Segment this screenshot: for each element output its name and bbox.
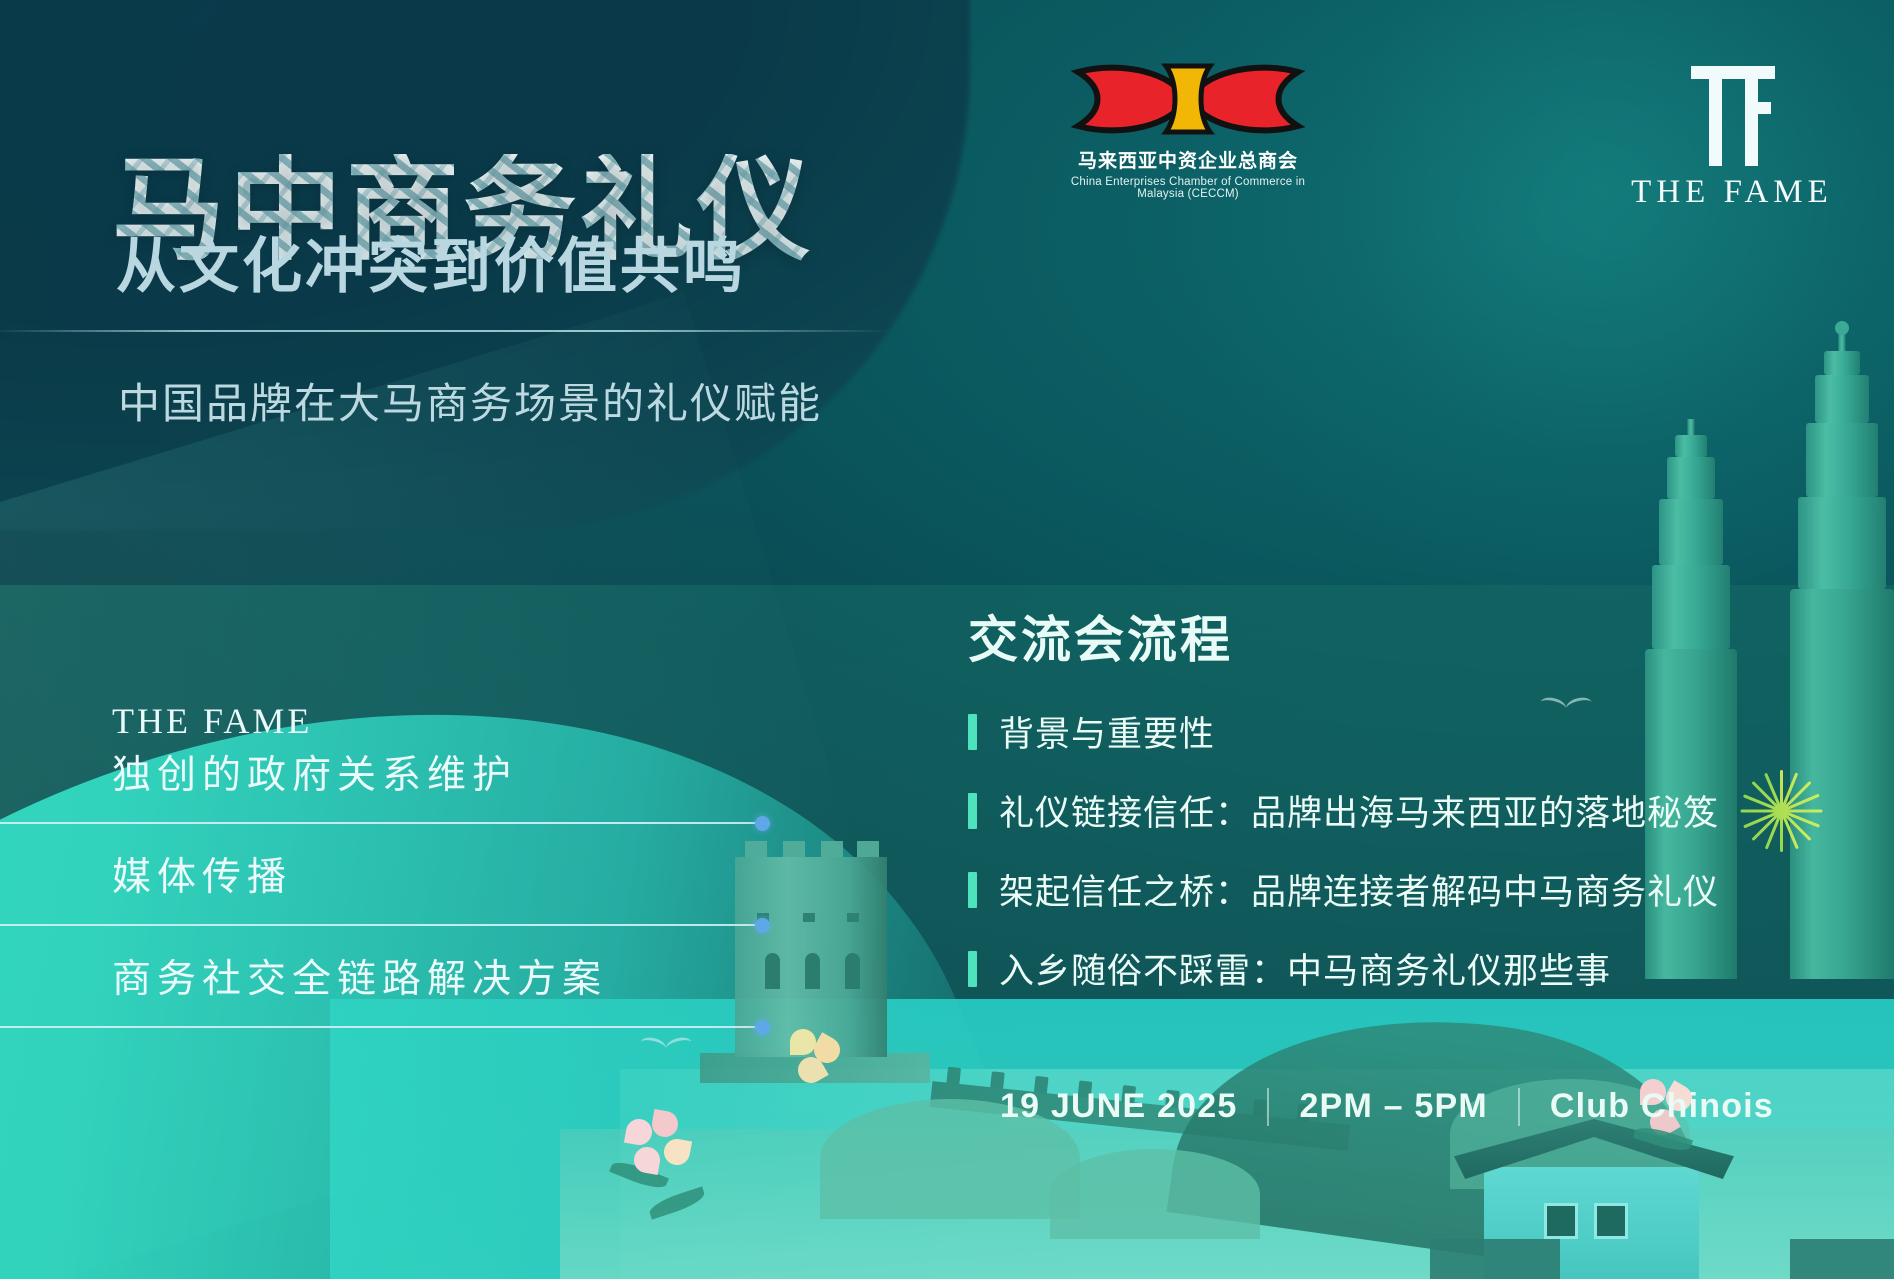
divider-dot-icon bbox=[755, 816, 770, 831]
event-details: 19 JUNE 2025 2PM – 5PM Club Chinois bbox=[1000, 1087, 1774, 1126]
event-date: 19 JUNE 2025 bbox=[1000, 1087, 1237, 1126]
tf-monogram-icon bbox=[1677, 58, 1787, 168]
ceccm-name-cn: 马来西亚中资企业总商会 bbox=[1063, 146, 1313, 173]
agenda-item-label: 入乡随俗不踩雷：中马商务礼仪那些事 bbox=[999, 943, 1611, 994]
agenda-item-0: 背景与重要性 bbox=[968, 706, 1868, 757]
poster-content: 马中商务礼仪 从文化冲突到价值共鸣 中国品牌在大马商务场景的礼仪赋能 马来西亚中… bbox=[0, 0, 1894, 1279]
agenda-item-label: 礼仪链接信任：品牌出海马来西亚的落地秘笈 bbox=[999, 785, 1719, 836]
agenda-heading: 交流会流程 bbox=[968, 600, 1868, 672]
agenda-item-1: 礼仪链接信任：品牌出海马来西亚的落地秘笈 bbox=[968, 785, 1868, 836]
meta-separator bbox=[1267, 1088, 1269, 1126]
agenda-item-3: 入乡随俗不踩雷：中马商务礼仪那些事 bbox=[968, 943, 1868, 994]
list-item: 媒体传播 bbox=[0, 846, 790, 902]
event-venue: Club Chinois bbox=[1550, 1087, 1774, 1126]
agenda-bullet-icon bbox=[968, 951, 977, 987]
agenda-bullet-icon bbox=[968, 872, 977, 908]
list-divider-2 bbox=[0, 924, 762, 926]
divider-dot-icon bbox=[755, 1020, 770, 1035]
meta-separator bbox=[1518, 1088, 1520, 1126]
event-poster: 马中商务礼仪 从文化冲突到价值共鸣 中国品牌在大马商务场景的礼仪赋能 马来西亚中… bbox=[0, 0, 1894, 1279]
agenda-bullet-icon bbox=[968, 714, 977, 750]
agenda-item-2: 架起信任之桥：品牌连接者解码中马商务礼仪 bbox=[968, 864, 1868, 915]
header-divider bbox=[0, 330, 890, 332]
event-time: 2PM – 5PM bbox=[1299, 1087, 1487, 1126]
page-tagline: 中国品牌在大马商务场景的礼仪赋能 bbox=[118, 370, 822, 431]
list-divider-3 bbox=[0, 1026, 762, 1028]
services-brand: THE FAME bbox=[0, 700, 790, 744]
service-item-2: 商务社交全链路解决方案 bbox=[0, 948, 790, 1004]
list-divider-1 bbox=[0, 822, 762, 824]
ceccm-name-en: China Enterprises Chamber of Commerce in… bbox=[1063, 176, 1313, 200]
services-list: THE FAME 独创的政府关系维护 媒体传播 商务社交全链路解决方案 bbox=[0, 700, 790, 1050]
agenda-section: 交流会流程 背景与重要性 礼仪链接信任：品牌出海马来西亚的落地秘笈 架起信任之桥… bbox=[968, 600, 1868, 1022]
ceccm-emblem-icon bbox=[1070, 58, 1306, 140]
the-fame-logo: THE FAME bbox=[1617, 58, 1847, 211]
agenda-item-label: 背景与重要性 bbox=[999, 706, 1215, 757]
agenda-bullet-icon bbox=[968, 793, 977, 829]
list-item: THE FAME 独创的政府关系维护 bbox=[0, 700, 790, 800]
ceccm-logo: 马来西亚中资企业总商会 China Enterprises Chamber of… bbox=[1063, 58, 1313, 200]
divider-dot-icon bbox=[755, 918, 770, 933]
page-subtitle: 从文化冲突到价值共鸣 bbox=[116, 218, 746, 305]
service-item-1: 媒体传播 bbox=[0, 846, 790, 902]
agenda-item-label: 架起信任之桥：品牌连接者解码中马商务礼仪 bbox=[999, 864, 1719, 915]
list-item: 商务社交全链路解决方案 bbox=[0, 948, 790, 1004]
service-item-0: 独创的政府关系维护 bbox=[0, 744, 790, 800]
the-fame-wordmark: THE FAME bbox=[1617, 174, 1847, 211]
